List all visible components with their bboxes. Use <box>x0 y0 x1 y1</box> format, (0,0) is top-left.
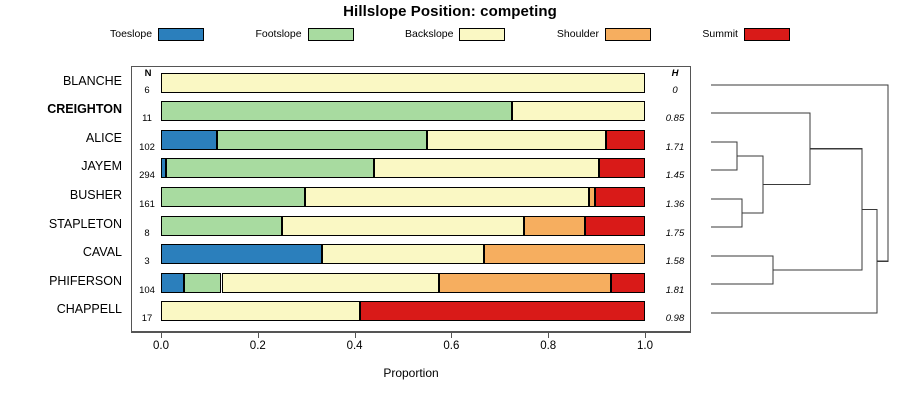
x-tick <box>161 332 162 338</box>
chart-title: Hillslope Position: competing <box>0 3 900 20</box>
bar-segment-summit <box>599 158 645 178</box>
legend-item-toeslope: Toeslope <box>110 28 204 41</box>
legend-item-shoulder: Shoulder <box>557 28 651 41</box>
y-axis-label: BLANCHE <box>0 75 122 88</box>
row-n-value: 102 <box>134 142 160 153</box>
bar-segment-backslope <box>161 301 360 321</box>
bar-segment-summit <box>611 273 645 293</box>
stacked-bar <box>161 244 645 264</box>
x-axis-line <box>131 332 691 333</box>
dendrogram <box>690 60 900 345</box>
x-tick-label: 0.4 <box>335 340 375 352</box>
x-tick <box>258 332 259 338</box>
y-axis-label: CAVAL <box>0 246 122 259</box>
legend-label-shoulder: Shoulder <box>557 28 599 40</box>
y-axis-label: STAPLETON <box>0 218 122 231</box>
bar-segment-footslope <box>166 158 374 178</box>
legend-item-summit: Summit <box>702 28 790 41</box>
row-n-value: 161 <box>134 199 160 210</box>
bar-segment-backslope <box>282 216 524 236</box>
dendrogram-svg <box>690 60 900 345</box>
x-tick-label: 0.8 <box>528 340 568 352</box>
bar-segment-backslope <box>322 244 484 264</box>
stacked-bar <box>161 130 645 150</box>
x-tick <box>645 332 646 338</box>
bar-segment-backslope <box>305 187 589 207</box>
legend-swatch-shoulder <box>605 28 651 41</box>
stacked-bar <box>161 73 645 93</box>
dendro-join-caval-phiferson <box>711 256 773 284</box>
stacked-bar <box>161 301 645 321</box>
row-n-value: 8 <box>134 228 160 239</box>
dendro-join-alice-jayem <box>711 142 737 170</box>
legend-label-toeslope: Toeslope <box>110 28 152 40</box>
bar-segment-footslope <box>184 273 221 293</box>
stacked-bar <box>161 158 645 178</box>
bar-segment-footslope <box>161 101 512 121</box>
legend-swatch-summit <box>744 28 790 41</box>
dendro-join-alice-busher-clusters <box>737 156 763 213</box>
row-h-value: 0.85 <box>661 113 689 124</box>
x-tick <box>355 332 356 338</box>
dendro-join-creighton <box>711 113 810 185</box>
y-axis-label: ALICE <box>0 132 122 145</box>
legend-swatch-footslope <box>308 28 354 41</box>
y-axis-label: CHAPPELL <box>0 303 122 316</box>
x-tick-label: 0.2 <box>238 340 278 352</box>
row-n-value: 11 <box>134 113 160 124</box>
legend-label-footslope: Footslope <box>255 28 301 40</box>
row-h-value: 1.36 <box>661 199 689 210</box>
legend-item-footslope: Footslope <box>255 28 353 41</box>
bar-segment-backslope <box>512 101 645 121</box>
row-n-value: 17 <box>134 313 160 324</box>
row-n-value: 294 <box>134 170 160 181</box>
bar-segment-footslope <box>161 216 282 236</box>
bar-segment-footslope <box>161 187 305 207</box>
legend-swatch-toeslope <box>158 28 204 41</box>
x-tick <box>548 332 549 338</box>
bar-segment-summit <box>606 130 645 150</box>
figure-root: Hillslope Position: competing Toeslope F… <box>0 0 900 400</box>
row-h-value: 0.98 <box>661 313 689 324</box>
bar-segment-shoulder <box>439 273 611 293</box>
bar-segment-shoulder <box>524 216 585 236</box>
x-tick-label: 1.0 <box>625 340 665 352</box>
legend-label-summit: Summit <box>702 28 738 40</box>
legend-swatch-backslope <box>459 28 505 41</box>
dendro-join-busher-stapleton <box>711 199 742 227</box>
bar-segment-backslope <box>161 73 645 93</box>
bar-segment-shoulder <box>484 244 645 264</box>
bar-segment-summit <box>585 216 646 236</box>
bar-segment-backslope <box>222 273 440 293</box>
row-h-value: 1.71 <box>661 142 689 153</box>
column-header-h: H <box>664 68 686 79</box>
y-axis-label: BUSHER <box>0 189 122 202</box>
stacked-bar <box>161 216 645 236</box>
row-h-value: 0 <box>661 85 689 96</box>
legend-item-backslope: Backslope <box>405 28 505 41</box>
row-n-value: 6 <box>134 85 160 96</box>
y-axis-label: CREIGHTON <box>0 103 122 116</box>
row-h-value: 1.81 <box>661 285 689 296</box>
row-h-value: 1.58 <box>661 256 689 267</box>
bar-segment-toeslope <box>161 130 217 150</box>
x-tick-label: 0.0 <box>141 340 181 352</box>
bar-segment-backslope <box>427 130 606 150</box>
bar-segment-toeslope <box>161 244 322 264</box>
x-axis-title: Proportion <box>131 366 691 380</box>
stacked-bar <box>161 187 645 207</box>
row-n-value: 104 <box>134 285 160 296</box>
stacked-bar <box>161 101 645 121</box>
stacked-bar <box>161 273 645 293</box>
y-axis-label: PHIFERSON <box>0 275 122 288</box>
row-n-value: 3 <box>134 256 160 267</box>
y-axis-label: JAYEM <box>0 160 122 173</box>
bar-segment-footslope <box>217 130 428 150</box>
bar-segment-summit <box>360 301 645 321</box>
row-h-value: 1.75 <box>661 228 689 239</box>
legend-label-backslope: Backslope <box>405 28 453 40</box>
dendro-join-chappell <box>711 209 877 313</box>
x-tick <box>451 332 452 338</box>
dendro-join-upper-caval <box>773 149 862 270</box>
bar-segment-backslope <box>374 158 599 178</box>
row-h-value: 1.45 <box>661 170 689 181</box>
column-header-n: N <box>137 68 159 79</box>
x-tick-label: 0.6 <box>431 340 471 352</box>
legend: Toeslope Footslope Backslope Shoulder Su… <box>110 25 790 43</box>
bar-segment-toeslope <box>161 273 184 293</box>
bar-segment-summit <box>595 187 645 207</box>
